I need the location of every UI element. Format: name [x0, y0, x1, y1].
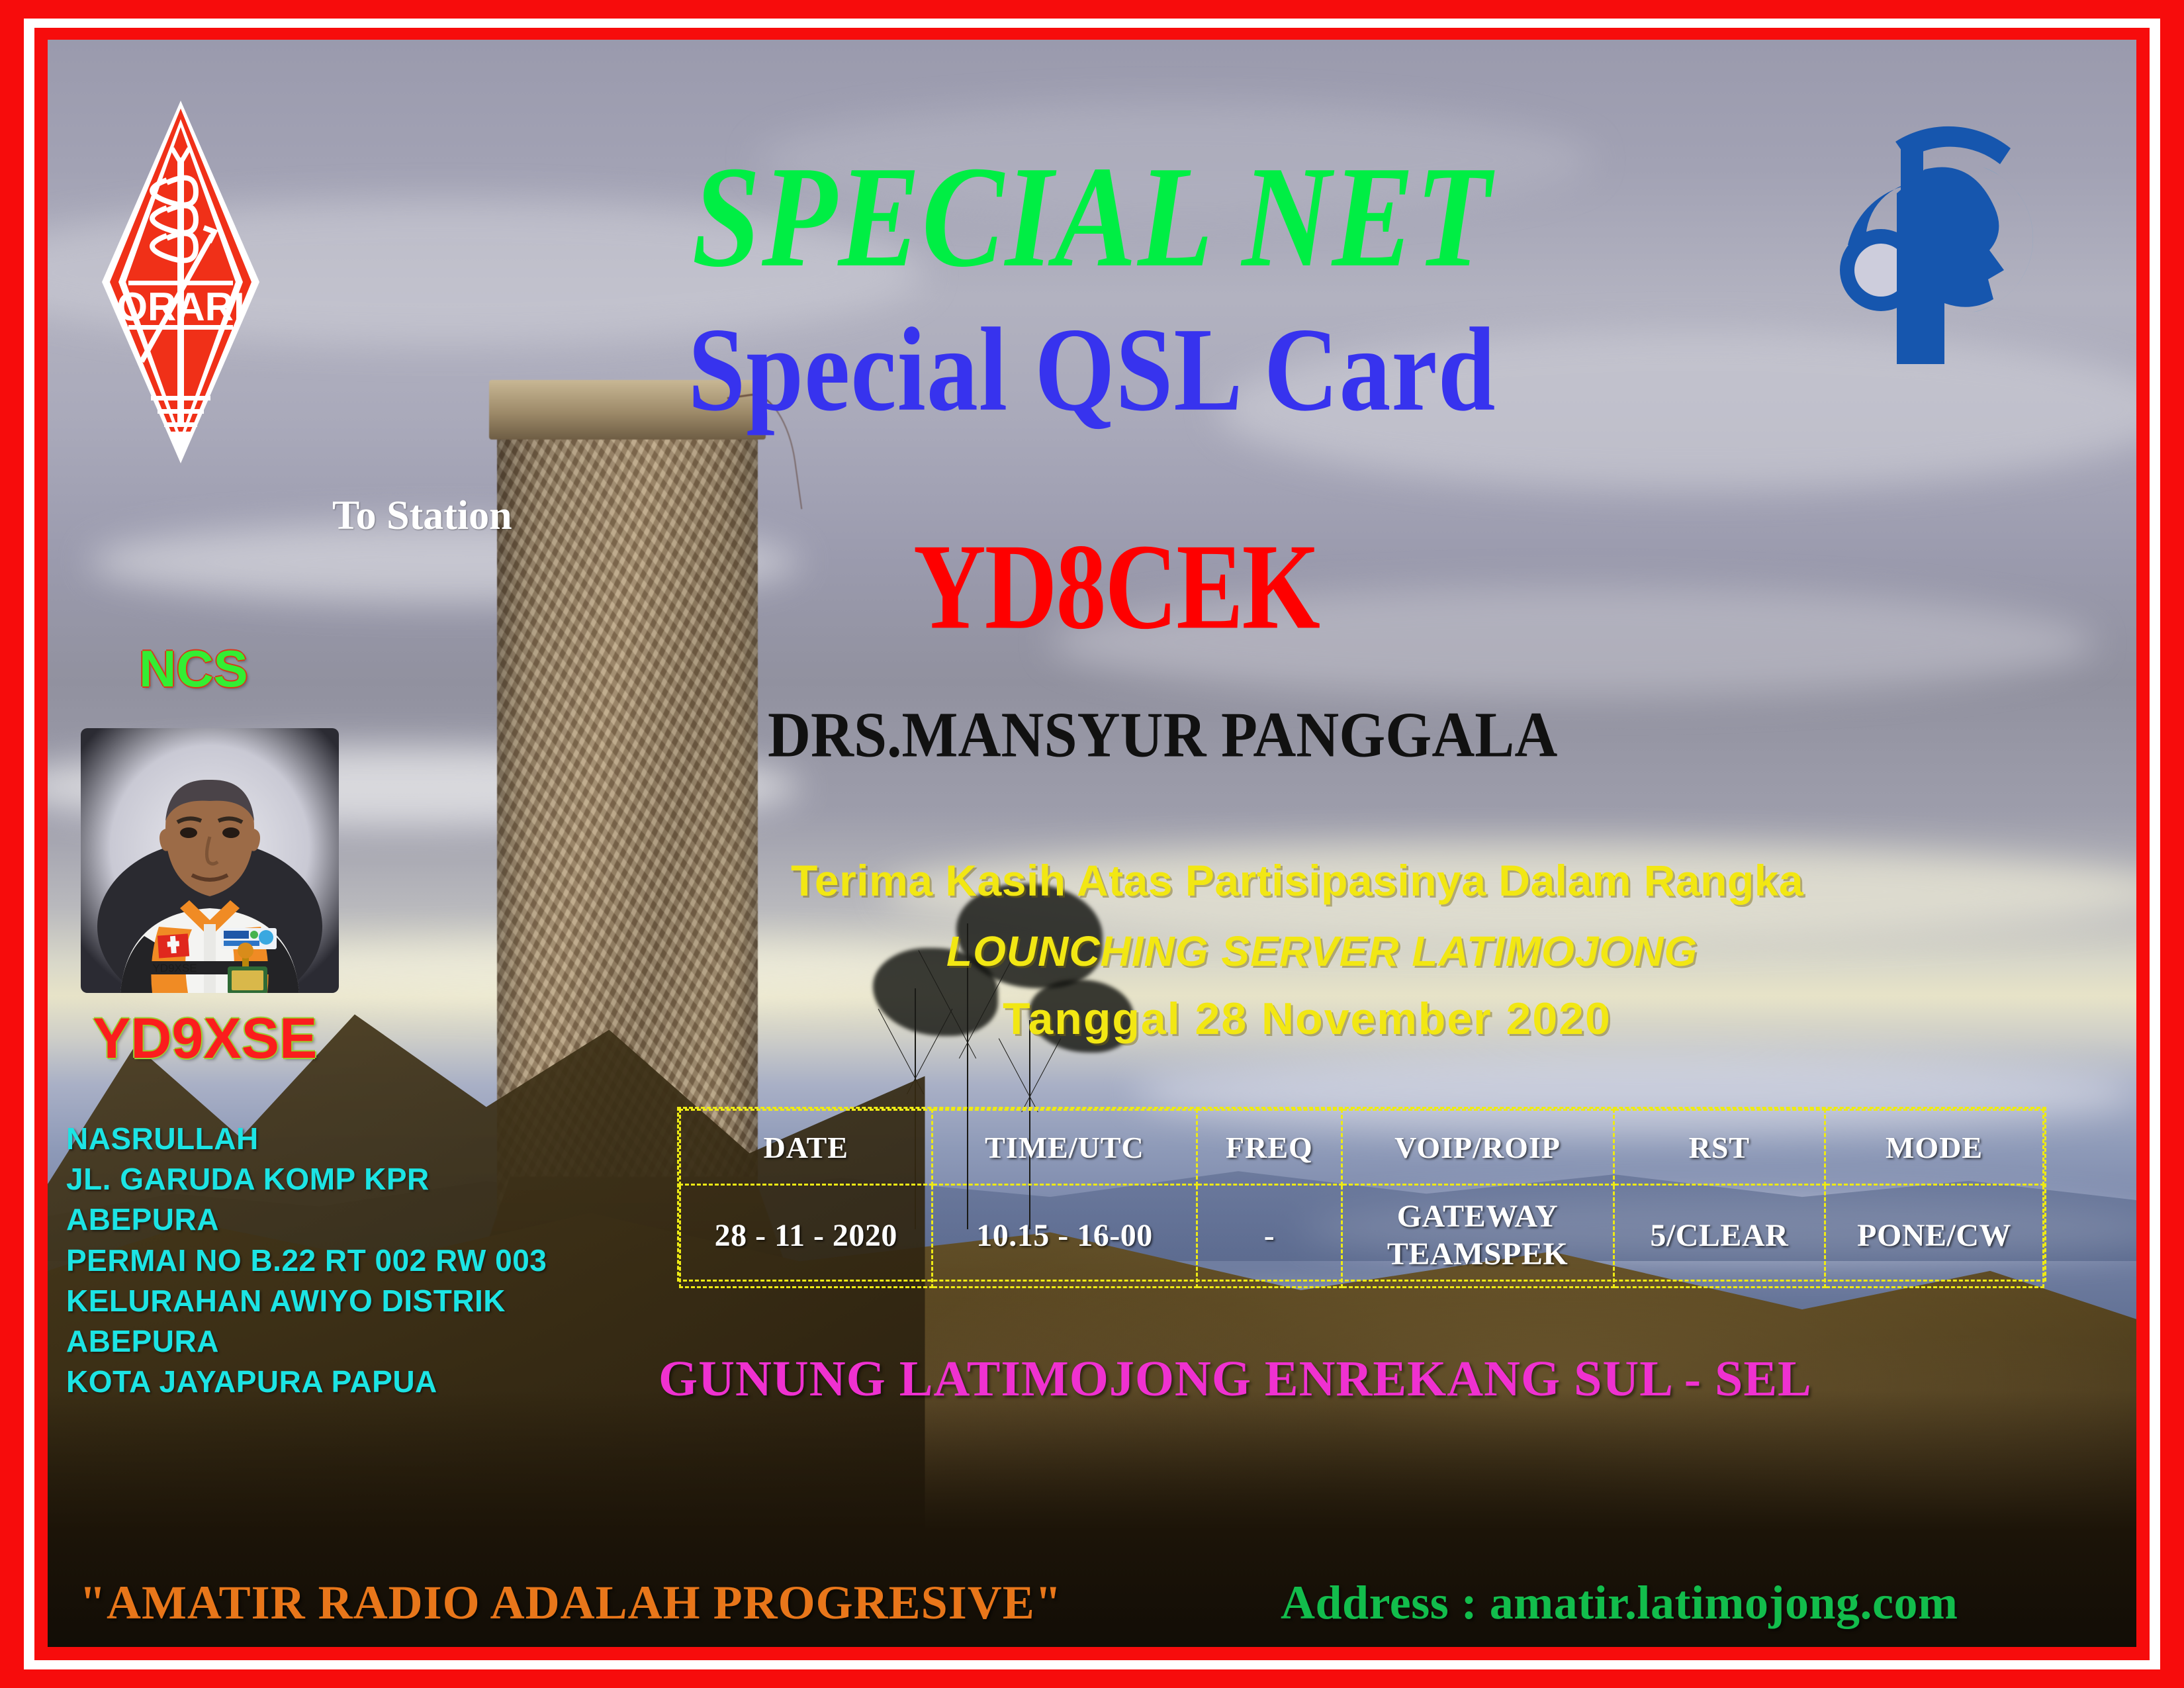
column-header-mode: MODE [1825, 1110, 2044, 1185]
qsl-card: ORARI SPECIAL NET Special QSL Card To St… [0, 0, 2184, 1688]
cell-date: 28 - 11 - 2020 [680, 1185, 933, 1288]
address-line: NASRULLAH [66, 1119, 547, 1159]
cell-rst: 5/CLEAR [1614, 1185, 1825, 1288]
column-header-date: DATE [680, 1110, 933, 1185]
address-line: JL. GARUDA KOMP KPR [66, 1159, 547, 1199]
cell-mode: PONE/CW [1825, 1185, 2044, 1288]
column-header-voip: VOIP/ROIP [1342, 1110, 1614, 1185]
location-label: GUNUNG LATIMOJONG ENREKANG SUL - SEL [659, 1350, 1812, 1408]
column-header-freq: FREQ [1197, 1110, 1342, 1185]
operator-name: DRS.MANSYUR PANGGALA [768, 698, 1557, 772]
page-subtitle-qsl-card: Special QSL Card [0, 310, 2184, 430]
cell-time: 10.15 - 16-00 [932, 1185, 1197, 1288]
address-line: PERMAI NO B.22 RT 002 RW 003 [66, 1241, 547, 1281]
station-callsign: YD8CEK [913, 516, 1319, 657]
thanks-line-1: Terima Kasih Atas Partisipasinya Dalam R… [791, 855, 1803, 906]
thanks-line-2-event: LOUNCHING SERVER LATIMOJONG [946, 927, 1698, 976]
cell-freq: - [1197, 1185, 1342, 1288]
address-line: ABEPURA [66, 1321, 547, 1362]
address-line: ABEPURA [66, 1199, 547, 1240]
address-line: KELURAHAN AWIYO DISTRIK [66, 1281, 547, 1321]
column-header-rst: RST [1614, 1110, 1825, 1185]
qso-log-table: DATE TIME/UTC FREQ VOIP/ROIP RST MODE 28… [677, 1107, 2046, 1282]
address-line: KOTA JAYAPURA PAPUA [66, 1362, 547, 1402]
ncs-callsign: YD9XSE [93, 1006, 317, 1072]
table-row: 28 - 11 - 2020 10.15 - 16-00 - GATEWAY T… [680, 1185, 2044, 1288]
thanks-line-3-date: Tanggal 28 November 2020 [1003, 993, 1612, 1045]
ncs-operator-photo: YD9XSE [81, 728, 339, 993]
ncs-label: NCS [139, 639, 248, 699]
footer-website: Address : amatir.latimojong.com [1281, 1575, 1958, 1630]
mailing-address: NASRULLAH JL. GARUDA KOMP KPR ABEPURA PE… [66, 1119, 547, 1402]
cell-voip-line2: TEAMSPEK [1343, 1236, 1612, 1274]
cell-voip-line1: GATEWAY [1343, 1198, 1612, 1236]
footer-motto: "AMATIR RADIO ADALAH PROGRESIVE" [79, 1575, 1062, 1630]
table-header-row: DATE TIME/UTC FREQ VOIP/ROIP RST MODE [680, 1110, 2044, 1185]
page-title-special-net: SPECIAL NET [0, 144, 2184, 289]
uniform-callsign-patch: YD9XSE [152, 962, 197, 974]
cell-voip: GATEWAY TEAMSPEK [1342, 1185, 1614, 1288]
to-station-label: To Station [332, 492, 512, 539]
column-header-time: TIME/UTC [932, 1110, 1197, 1185]
